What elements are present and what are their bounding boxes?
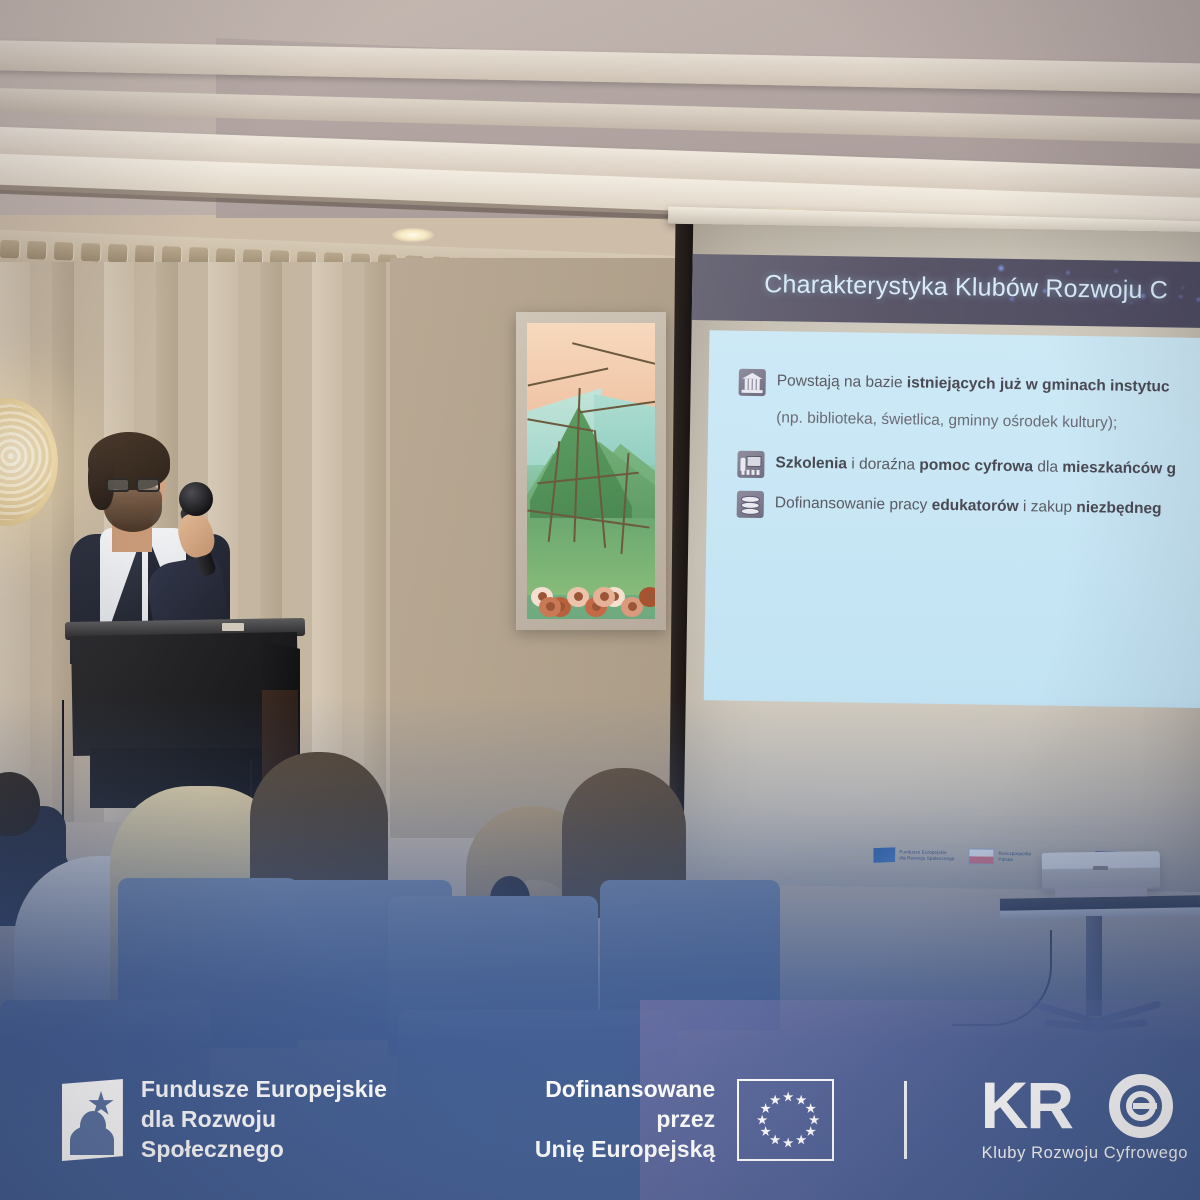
chair-4 bbox=[600, 880, 780, 1030]
krc-e-crossbar bbox=[1133, 1103, 1157, 1109]
banner-eu-text: Dofinansowane przez Unię Europejską bbox=[492, 1075, 715, 1165]
microphone-head bbox=[179, 482, 213, 516]
dentil-block bbox=[0, 240, 20, 259]
projector-brand-label bbox=[1093, 866, 1108, 870]
sf-fe-line2: dla Rozwoju Społecznego bbox=[899, 855, 954, 862]
sf-pl-line2: Polska bbox=[998, 857, 1031, 864]
conference-photo: Charakterystyka Klubów Rozwoju C Powstaj… bbox=[0, 0, 1200, 1200]
eu-star bbox=[805, 1103, 816, 1114]
wallpaper-stripe bbox=[0, 262, 30, 822]
bullet2-mid2: dla bbox=[1033, 458, 1063, 475]
coins-stack-icon bbox=[737, 491, 764, 518]
bottom-banner: Fundusze Europejskie dla Rozwoju Społecz… bbox=[0, 1040, 1200, 1200]
podium-label bbox=[222, 623, 244, 631]
bullet2-bold1: Szkolenia bbox=[775, 454, 847, 472]
bullet2-bold2: pomoc cyfrowa bbox=[919, 457, 1033, 476]
slide-bullet-3: Dofinansowanie pracy edukatorów i zakup … bbox=[737, 491, 1200, 527]
title-band-sparkle bbox=[999, 266, 1004, 271]
slide-bullet-2-text: Szkolenia i doraźna pomoc cyfrowa dla mi… bbox=[775, 451, 1176, 478]
dentil-block bbox=[135, 245, 155, 264]
slide-bullet-1-text: Powstają na bazie istniejących już w gmi… bbox=[777, 369, 1170, 396]
eu-star bbox=[796, 1134, 807, 1145]
bank-building-icon bbox=[739, 369, 766, 396]
banner-divider bbox=[904, 1081, 906, 1159]
podium-cable bbox=[62, 700, 96, 880]
room-background: Charakterystyka Klubów Rozwoju C Powstaj… bbox=[0, 0, 1200, 1200]
eu-star bbox=[805, 1126, 816, 1137]
stained-glass-flower-center bbox=[600, 592, 609, 601]
wallpaper-stripe bbox=[364, 262, 386, 822]
krc-mark-letters: KR bbox=[981, 1072, 1072, 1138]
wallpaper-stripe bbox=[312, 262, 342, 822]
krc-logo: KR Kluby Rozwoju Cyfrowego bbox=[981, 1070, 1200, 1170]
eu-star bbox=[770, 1095, 781, 1106]
ceiling-downlight-2 bbox=[392, 228, 434, 242]
stained-glass-flower-center bbox=[628, 602, 637, 611]
fe-logo-icon bbox=[873, 847, 895, 863]
banner-fe-line1: Fundusze Europejskie bbox=[141, 1075, 412, 1105]
bullet3-bold1: edukatorów bbox=[932, 497, 1019, 515]
banner-fe-text: Fundusze Europejskie dla Rozwoju Społecz… bbox=[141, 1075, 412, 1165]
eu-star bbox=[757, 1114, 768, 1125]
title-band-sparkle bbox=[1115, 270, 1118, 273]
poland-flag-icon bbox=[968, 848, 994, 864]
stained-glass-panel bbox=[527, 323, 655, 619]
bullet2-mid1: i doraźna bbox=[847, 455, 920, 473]
stained-glass-flower-center bbox=[574, 592, 583, 601]
stained-glass-window-frame bbox=[516, 312, 666, 630]
eu-star bbox=[760, 1103, 771, 1114]
slide-footer-poland: Rzeczpospolita Polska bbox=[968, 848, 1031, 865]
eu-star bbox=[796, 1095, 807, 1106]
slide-footer-poland-text: Rzeczpospolita Polska bbox=[998, 851, 1031, 864]
projector-base bbox=[1055, 887, 1147, 897]
slide-bullet-2: Szkolenia i doraźna pomoc cyfrowa dla mi… bbox=[737, 451, 1200, 487]
eu-star bbox=[760, 1126, 771, 1137]
slide-bullet-3-text: Dofinansowanie pracy edukatorów i zakup … bbox=[775, 491, 1162, 518]
stained-glass-flower-center bbox=[546, 602, 555, 611]
banner-fe-line2: dla Rozwoju Społecznego bbox=[141, 1105, 412, 1165]
dentil-block bbox=[108, 244, 128, 263]
banner-eu-line1: Dofinansowane przez bbox=[492, 1075, 715, 1135]
dentil-block bbox=[54, 242, 74, 261]
projection-screen: Charakterystyka Klubów Rozwoju C Powstaj… bbox=[683, 224, 1200, 892]
stained-glass-flower-center bbox=[646, 592, 655, 601]
lamp-texture bbox=[0, 404, 52, 520]
bullet1-bold: istniejących już w gminach instytuc bbox=[907, 374, 1170, 395]
dentil-block bbox=[81, 243, 101, 262]
projector-stand-legs bbox=[1030, 1000, 1162, 1034]
bullet1-lead: Powstają na bazie bbox=[777, 372, 907, 391]
eu-star bbox=[809, 1114, 820, 1125]
eu-flag-icon bbox=[737, 1079, 834, 1161]
fundusze-europejskie-icon bbox=[62, 1079, 123, 1161]
banner-eu-block: Dofinansowane przez Unię Europejską bbox=[492, 1075, 835, 1165]
banner-eu-line2: Unię Europejską bbox=[492, 1135, 715, 1165]
bullet3-bold2: niezbędneg bbox=[1076, 499, 1162, 517]
slide-bullet-1: Powstają na bazie istniejących już w gmi… bbox=[739, 369, 1200, 405]
slide-bullet-1-subtext: (np. biblioteka, świetlica, gminny ośrod… bbox=[776, 409, 1117, 432]
dentil-block bbox=[27, 241, 47, 260]
slide-footer-fe-text: Fundusze Europejskie dla Rozwoju Społecz… bbox=[899, 849, 954, 862]
bullet3-mid: i zakup bbox=[1018, 498, 1076, 516]
krc-subtitle: Kluby Rozwoju Cyfrowego bbox=[982, 1144, 1188, 1163]
glass-foreground bbox=[527, 518, 655, 595]
slide-footer-fe: Fundusze Europejskie dla Rozwoju Społecz… bbox=[873, 847, 954, 864]
eu-star bbox=[783, 1091, 794, 1102]
eu-star bbox=[783, 1137, 794, 1148]
banner-fe-block: Fundusze Europejskie dla Rozwoju Społecz… bbox=[62, 1075, 412, 1165]
speaker-glasses bbox=[106, 478, 168, 493]
eu-star bbox=[770, 1134, 781, 1145]
training-presentation-icon bbox=[737, 451, 764, 478]
projector bbox=[1042, 851, 1161, 891]
bullet3-lead: Dofinansowanie pracy bbox=[775, 494, 932, 513]
bullet2-bold3: mieszkańców g bbox=[1062, 459, 1176, 478]
slide-body: Powstają na bazie istniejących już w gmi… bbox=[704, 330, 1200, 708]
